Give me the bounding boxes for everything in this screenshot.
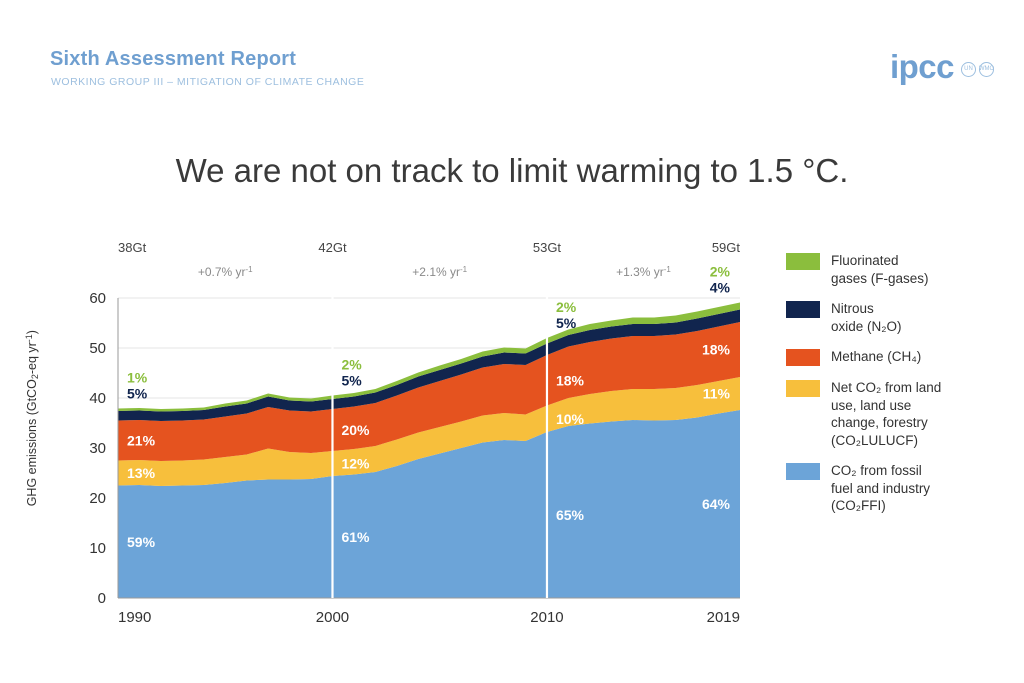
stacked-area-chart: GHG emissions (GtCO2-eq yr-1) 0102030405… [0, 230, 780, 650]
ipcc-logo: ipcc UN WMO [890, 52, 994, 82]
legend-swatch [786, 463, 820, 480]
legend-label: Fluorinatedgases (F-gases) [831, 252, 929, 287]
share-label-fgas: 2% [710, 264, 731, 280]
logo-badges: UN WMO [961, 62, 994, 82]
legend-label: Methane (CH₄) [831, 348, 921, 366]
legend-label-line: use, land use [831, 397, 941, 415]
report-title: Sixth Assessment Report [50, 48, 296, 71]
share-label-lulucf: 13% [127, 465, 156, 481]
share-label-fgas: 2% [341, 357, 362, 373]
x-tick-label: 1990 [118, 609, 151, 626]
share-label-ch4: 21% [127, 433, 156, 449]
share-label-n2o: 4% [710, 280, 731, 296]
legend-label-line: (CO₂LULUCF) [831, 432, 941, 450]
share-label-lulucf: 11% [703, 386, 731, 402]
total-annotation: 42Gt [318, 240, 347, 255]
legend-label: CO₂ from fossilfuel and industry(CO₂FFI) [831, 462, 930, 515]
chart-canvas: 0102030405060199020002010201938Gt42Gt53G… [0, 230, 780, 650]
legend-label-line: (CO₂FFI) [831, 497, 930, 515]
legend-item[interactable]: CO₂ from fossilfuel and industry(CO₂FFI) [786, 462, 1021, 515]
share-label-ch4: 18% [702, 342, 731, 358]
legend-label: Nitrousoxide (N₂O) [831, 300, 902, 335]
y-tick-label: 10 [89, 540, 106, 557]
legend-swatch [786, 253, 820, 270]
growth-annotation: +1.3% yr-1 [616, 265, 671, 279]
legend-label-line: gases (F-gases) [831, 270, 929, 288]
growth-annotation: +0.7% yr-1 [198, 265, 253, 279]
share-label-n2o: 5% [341, 373, 362, 389]
share-label-ch4: 20% [341, 422, 370, 438]
share-label-n2o: 5% [127, 386, 148, 402]
legend-swatch [786, 301, 820, 318]
share-label-fgas: 2% [556, 299, 577, 315]
share-label-n2o: 5% [556, 315, 577, 331]
y-tick-label: 60 [89, 290, 106, 307]
legend-item[interactable]: Fluorinatedgases (F-gases) [786, 252, 1021, 287]
legend-label-line: oxide (N₂O) [831, 318, 902, 336]
legend-swatch [786, 380, 820, 397]
legend-label-line: change, forestry [831, 414, 941, 432]
share-label-ffi: 65% [556, 507, 585, 523]
share-label-ffi: 59% [127, 534, 156, 550]
legend-label-line: Methane (CH₄) [831, 348, 921, 366]
x-tick-label: 2010 [530, 609, 563, 626]
y-tick-label: 20 [89, 490, 106, 507]
legend-label: Net CO₂ from landuse, land usechange, fo… [831, 379, 941, 449]
share-label-ffi: 64% [702, 496, 731, 512]
wmo-badge-icon: WMO [979, 62, 994, 77]
legend-item[interactable]: Methane (CH₄) [786, 348, 1021, 366]
y-tick-label: 30 [89, 440, 106, 457]
legend-label-line: Net CO₂ from land [831, 379, 941, 397]
total-annotation: 59Gt [712, 240, 741, 255]
un-badge-icon: UN [961, 62, 976, 77]
share-label-fgas: 1% [127, 370, 148, 386]
share-label-ffi: 61% [341, 529, 370, 545]
share-label-lulucf: 12% [341, 456, 370, 472]
y-tick-label: 0 [98, 590, 106, 607]
un-badge-label: UN [964, 66, 973, 72]
ipcc-wordmark: ipcc [890, 52, 954, 82]
legend-label-line: CO₂ from fossil [831, 462, 930, 480]
legend-label-line: Fluorinated [831, 252, 929, 270]
legend-swatch [786, 349, 820, 366]
slide-root: Sixth Assessment Report WORKING GROUP II… [0, 0, 1024, 683]
wmo-badge-label: WMO [979, 66, 994, 72]
report-subtitle: WORKING GROUP III – MITIGATION OF CLIMAT… [51, 76, 364, 88]
x-tick-label: 2000 [316, 609, 349, 626]
share-label-ch4: 18% [556, 372, 585, 388]
total-annotation: 38Gt [118, 240, 147, 255]
slide-headline: We are not on track to limit warming to … [0, 152, 1024, 190]
legend-label-line: fuel and industry [831, 480, 930, 498]
y-tick-label: 50 [89, 340, 106, 357]
growth-annotation: +2.1% yr-1 [412, 265, 467, 279]
chart-legend: Fluorinatedgases (F-gases)Nitrousoxide (… [786, 252, 1021, 528]
legend-item[interactable]: Net CO₂ from landuse, land usechange, fo… [786, 379, 1021, 449]
total-annotation: 53Gt [533, 240, 562, 255]
legend-label-line: Nitrous [831, 300, 902, 318]
y-tick-label: 40 [89, 390, 106, 407]
legend-item[interactable]: Nitrousoxide (N₂O) [786, 300, 1021, 335]
x-tick-label: 2019 [707, 609, 740, 626]
y-axis-label: GHG emissions (GtCO2-eq yr-1) [24, 268, 40, 568]
share-label-lulucf: 10% [556, 411, 585, 427]
